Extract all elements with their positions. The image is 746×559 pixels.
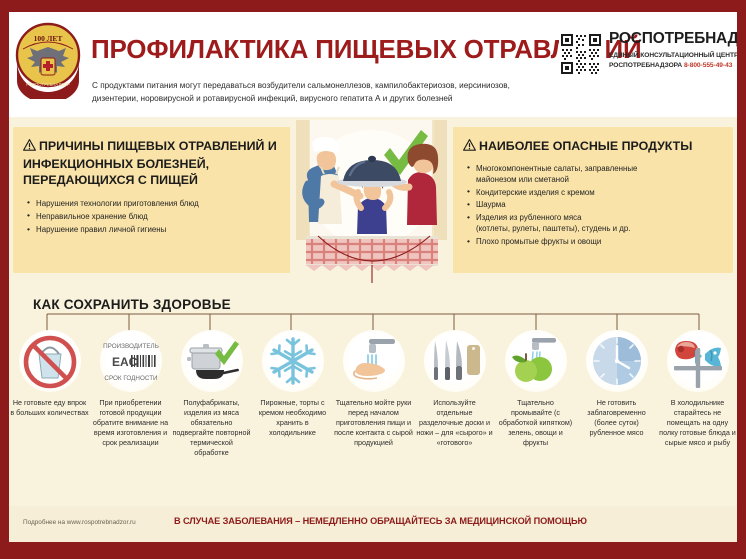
agency-name: РОСПОТРЕБНАДЗОР <box>609 30 737 48</box>
warning-triangle-icon <box>463 139 476 156</box>
tips-row: Не готовьте еду впрок в больших количест… <box>9 330 737 515</box>
tip-item-no-bulk-cooking: Не готовьте еду впрок в больших количест… <box>9 330 90 418</box>
meat-fish-separate-icon <box>667 330 729 392</box>
no-bulk-cooking-icon <box>19 330 81 392</box>
list-item-main: Многокомпонентные салаты, заправленные <box>476 164 637 173</box>
list-item-cont: майонезом или сметаной <box>476 174 725 185</box>
tip-text: Не готовьте еду впрок в больших количест… <box>9 398 90 418</box>
tip-text: В холодильнике старайтесь не помещать на… <box>657 398 737 448</box>
tip-item-check-label: ПРОИЗВОДИТЕЛЬ EAC СРОК ГОДНОСТИ При прио… <box>90 330 171 448</box>
rospotrebnadzor-emblem-icon: 100 ЛЕТ РОСПОТРЕБНАДЗОР <box>11 15 85 99</box>
poster-header: 100 ЛЕТ РОСПОТРЕБНАДЗОР ПРОФИЛАКТИКА ПИЩ… <box>9 12 737 117</box>
poster-footer: Подробнее на www.rospotrebnadzor.ru В СЛ… <box>9 506 737 542</box>
tip-item-wash-vegetables: Тщательно промывайте (с обработкой кипят… <box>495 330 576 448</box>
tip-text: При приобретении готовой продукции обрат… <box>90 398 171 448</box>
tip-text: Тщательно промывайте (с обработкой кипят… <box>495 398 576 448</box>
causes-panel-title-text: ПРИЧИНЫ ПИЩЕВЫХ ОТРАВЛЕНИЙ И ИНФЕКЦИОННЫ… <box>23 139 277 187</box>
list-item: Кондитерские изделия с кремом <box>465 187 725 198</box>
product-label-icon: ПРОИЗВОДИТЕЛЬ EAC СРОК ГОДНОСТИ <box>100 330 162 392</box>
pot-and-pan-reheat-icon <box>181 330 243 392</box>
snowflake-icon <box>262 330 324 392</box>
dangerous-products-panel-title: НАИБОЛЕЕ ОПАСНЫЕ ПРОДУКТЫ <box>451 127 733 156</box>
tip-item-wash-hands: Тщательно мойте руки перед началом приго… <box>333 330 414 448</box>
svg-text:EAC: EAC <box>112 355 138 369</box>
tip-item-refrigerate-cakes: Пирожные, торты с кремом необходимо хран… <box>252 330 333 438</box>
agency-block: РОСПОТРЕБНАДЗОР ЕДИНЫЙ КОНСУЛЬТАЦИОННЫЙ … <box>559 30 729 92</box>
wash-vegetables-icon <box>505 330 567 392</box>
dangerous-products-title-text: НАИБОЛЕЕ ОПАСНЫЕ ПРОДУКТЫ <box>479 139 692 153</box>
emergency-alert-text: В СЛУЧАЕ ЗАБОЛЕВАНИЯ – НЕМЕДЛЕННО ОБРАЩА… <box>174 516 587 526</box>
agency-subtitle-line1: ЕДИНЫЙ КОНСУЛЬТАЦИОННЫЙ ЦЕНТР <box>609 52 737 59</box>
qr-code-icon[interactable] <box>559 32 603 76</box>
knives-cutting-board-icon <box>424 330 486 392</box>
causes-panel-title: ПРИЧИНЫ ПИЩЕВЫХ ОТРАВЛЕНИЙ И ИНФЕКЦИОННЫ… <box>13 127 291 189</box>
tip-text: Полуфабрикаты, изделия из мяса обязатель… <box>171 398 252 457</box>
tip-text: Не готовить заблаговременно (более суток… <box>576 398 657 438</box>
list-item: Неправильное хранение блюд <box>25 211 283 222</box>
clock-icon <box>586 330 648 392</box>
family-cooking-illustration <box>290 118 453 283</box>
tip-text: Тщательно мойте руки перед началом приго… <box>333 398 414 448</box>
frame-top-border <box>0 0 746 12</box>
infographic-poster: 100 ЛЕТ РОСПОТРЕБНАДЗОР ПРОФИЛАКТИКА ПИЩ… <box>0 0 746 559</box>
list-item: Шаурма <box>465 199 725 210</box>
list-item: Изделия из рубленного мяса(котлеты, руле… <box>465 212 725 234</box>
tip-item-separate-shelf: В холодильнике старайтесь не помещать на… <box>657 330 737 448</box>
tip-item-separate-boards: Используйте отдельные разделочные доски … <box>414 330 495 448</box>
tip-text: Пирожные, торты с кремом необходимо хран… <box>252 398 333 438</box>
causes-panel: ПРИЧИНЫ ПИЩЕВЫХ ОТРАВЛЕНИЙ И ИНФЕКЦИОННЫ… <box>13 127 291 273</box>
tip-item-no-early-cooking: Не готовить заблаговременно (более суток… <box>576 330 657 438</box>
svg-text:СРОК ГОДНОСТИ: СРОК ГОДНОСТИ <box>104 375 158 382</box>
list-item: Нарушение правил личной гигиены <box>25 224 283 235</box>
list-item-main: Плохо промытые фрукты и овощи <box>476 237 601 246</box>
list-item-main: Изделия из рубленного мяса <box>476 213 581 222</box>
wash-hands-icon <box>343 330 405 392</box>
header-subtitle: С продуктами питания могут передаваться … <box>92 80 512 105</box>
svg-text:ПРОИЗВОДИТЕЛЬ: ПРОИЗВОДИТЕЛЬ <box>103 343 159 350</box>
list-item-cont: (котлеты, рулеты, паштеты), студень и др… <box>476 223 725 234</box>
list-item: Плохо промытые фрукты и овощи <box>465 236 725 247</box>
list-item: Нарушения технологии приготовления блюд <box>25 198 283 209</box>
agency-hotline-phone[interactable]: 8-800-555-49-43 <box>684 62 732 69</box>
causes-list: Нарушения технологии приготовления блюд … <box>25 198 283 236</box>
frame-left-border <box>0 0 9 559</box>
agency-subtitle-prefix: РОСПОТРЕБНАДЗОРА <box>609 62 682 69</box>
frame-bottom-border <box>0 542 746 559</box>
tip-item-reheat: Полуфабрикаты, изделия из мяса обязатель… <box>171 330 252 457</box>
tip-text: Используйте отдельные разделочные доски … <box>414 398 495 448</box>
svg-text:100 ЛЕТ: 100 ЛЕТ <box>34 34 63 43</box>
poster-stage: 100 ЛЕТ РОСПОТРЕБНАДЗОР ПРОФИЛАКТИКА ПИЩ… <box>9 12 737 542</box>
warning-triangle-icon <box>23 139 36 156</box>
how-to-section-title: КАК СОХРАНИТЬ ЗДОРОВЬЕ <box>33 297 231 312</box>
list-item-main: Кондитерские изделия с кремом <box>476 188 595 197</box>
more-info-link[interactable]: Подробнее на www.rospotrebnadzor.ru <box>23 519 136 526</box>
list-item-main: Шаурма <box>476 200 506 209</box>
dangerous-products-panel: НАИБОЛЕЕ ОПАСНЫЕ ПРОДУКТЫ Многокомпонент… <box>451 127 733 273</box>
frame-right-border <box>737 0 746 559</box>
dangerous-products-list: Многокомпонентные салаты, заправленныема… <box>465 163 725 248</box>
svg-text:РОСПОТРЕБНАДЗОР: РОСПОТРЕБНАДЗОР <box>26 82 70 87</box>
agency-subtitle-line2: РОСПОТРЕБНАДЗОРА 8-800-555-49-43 <box>609 62 732 69</box>
list-item: Многокомпонентные салаты, заправленныема… <box>465 163 725 185</box>
